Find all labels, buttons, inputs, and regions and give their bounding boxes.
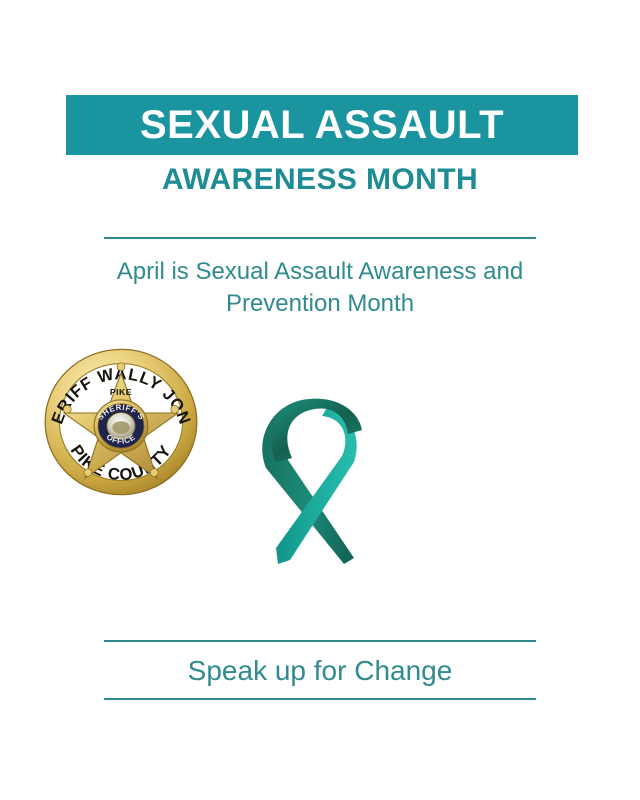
lead-text: April is Sexual Assault Awareness and Pr… [60,256,580,321]
divider-footer-top [104,640,536,642]
sheriff-badge-icon: SHERIFF WALLY JONES PIKE COUNTY PIKE [42,346,200,498]
divider-footer-bottom [104,698,536,700]
banner-title: SEXUAL ASSAULT [140,105,504,145]
header-banner: SEXUAL ASSAULT [66,95,578,155]
poster-canvas: SEXUAL ASSAULT AWARENESS MONTH April is … [0,0,640,800]
awareness-ribbon-icon [258,372,382,568]
divider-top [104,237,536,239]
footer-call-to-action: Speak up for Change [60,654,580,688]
subheading: AWARENESS MONTH [0,163,640,196]
badge-center-top-text: PIKE [110,387,132,397]
